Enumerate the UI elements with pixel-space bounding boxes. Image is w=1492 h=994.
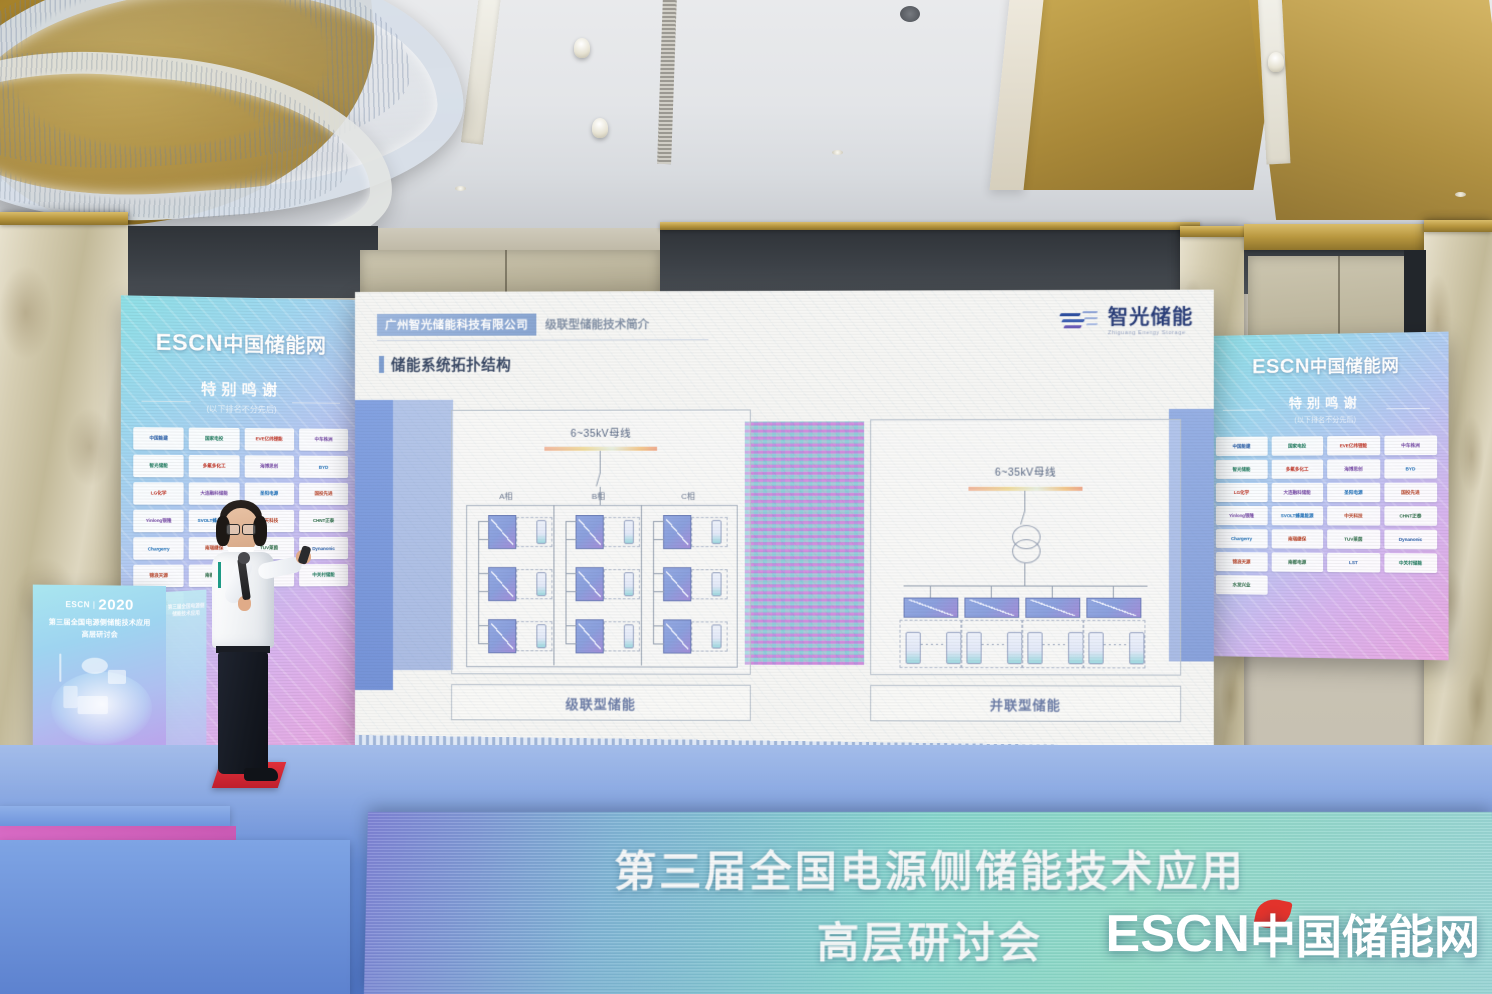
parallel-battery-rack	[1088, 632, 1103, 664]
zhiguang-logo-text-group: 智光储能 Zhiguang Energy Storage	[1108, 308, 1194, 336]
ceiling-spotlight-2	[592, 118, 608, 138]
podium-title-line1: 第三届全国电源侧储能技术应用	[33, 617, 166, 628]
cascaded-wire-link	[653, 573, 654, 625]
cascaded-battery-group	[691, 569, 727, 599]
slide-header-rule	[377, 339, 708, 341]
sponsor-logo-label: 智光储能	[1232, 466, 1250, 472]
sponsor-logo-cell: SVOLT蜂巢能源	[1271, 506, 1323, 525]
gold-trim-left	[0, 212, 128, 225]
ceiling-downlight-3	[832, 150, 843, 155]
parallel-battery-rack	[946, 632, 961, 664]
podium-brand-en: ESCN	[65, 600, 90, 609]
wall-recess-left	[128, 226, 378, 298]
sponsor-logo-label: 锦浪天源	[149, 573, 167, 579]
sponsor-logo-label: Dynanonic	[1399, 537, 1422, 542]
slide-section-title: 储能系统拓扑结构	[379, 354, 511, 375]
parallel-distribution-bus	[904, 585, 1148, 586]
parallel-battery-ellipsis	[1043, 644, 1065, 645]
sponsor-logo-label: 圣阳电源	[260, 491, 278, 497]
sponsor-logo-label: Chargerry	[1231, 536, 1252, 541]
cascaded-converter-block	[663, 567, 691, 601]
diagram-cascaded: 6~35kV母线 A相 B相 C相	[451, 409, 751, 674]
parallel-breaker	[1020, 511, 1025, 525]
sponsor-logo-cell: Dynanonic	[1384, 530, 1437, 550]
diagram-parallel: 6~35kV母线	[870, 419, 1181, 676]
slide-subtitle: 级联型储能技术简介	[545, 316, 649, 332]
cascaded-wire-in	[478, 573, 489, 574]
sponsor-logo-cell: 中车株洲	[1384, 435, 1437, 455]
cascaded-wire-link	[565, 573, 566, 625]
escn-brand-en-left: ESCN	[156, 329, 223, 356]
parallel-branch-drop	[930, 585, 931, 597]
sponsor-logo-label: 中国能建	[149, 435, 167, 441]
cascaded-wire-out	[565, 591, 576, 592]
sponsor-logo-cell: 圣阳电源	[1327, 483, 1380, 502]
sponsor-logo-cell: Yinlong银隆	[133, 510, 184, 532]
microphone-head-icon	[238, 552, 250, 564]
sponsor-logo-cell: 中车株洲	[299, 428, 348, 450]
sponsor-logo-label: 中关村储能	[1399, 560, 1422, 566]
sponsor-logo-label: LST	[1349, 560, 1358, 565]
stage-lower-platform	[0, 840, 350, 994]
section-accent-bar	[379, 356, 384, 373]
thanks-title-left: 特别鸣谢	[121, 377, 360, 401]
speaker-shoe	[244, 768, 278, 781]
cascaded-battery-rack	[536, 624, 546, 648]
cascaded-battery-group	[691, 621, 727, 651]
parallel-xfmr-drop	[1024, 563, 1025, 585]
zhiguang-mark-icon	[1060, 310, 1101, 334]
sponsor-logo-label: BYD	[1406, 466, 1416, 471]
escn-logo-left: ESCN中国储能网	[121, 326, 360, 359]
cascaded-wire-out	[478, 539, 489, 540]
cascaded-converter-block	[576, 619, 604, 653]
cascaded-battery-group	[691, 517, 727, 547]
speaker-glasses-icon	[226, 524, 256, 533]
parallel-battery-ellipsis	[1104, 644, 1126, 645]
phase-label-b: B相	[592, 491, 605, 502]
cascaded-battery-group	[604, 517, 640, 547]
parallel-converter-block	[1025, 598, 1080, 618]
sponsor-logo-label: 多氟多化工	[1286, 466, 1309, 472]
cascaded-battery-rack	[711, 520, 721, 544]
ceiling-downlight-2	[1455, 192, 1466, 197]
speaker-lanyard	[218, 562, 221, 588]
sponsor-logo-label: 锦浪天源	[1232, 559, 1250, 565]
sponsor-logo-label: EVE亿纬锂能	[1340, 443, 1367, 449]
sponsor-logo-cell: TUV莱茵	[1327, 529, 1380, 549]
cascaded-battery-group	[516, 569, 552, 599]
screen-artifact-left-band	[355, 400, 393, 690]
cascaded-caption: 级联型储能	[451, 684, 751, 721]
sponsor-logo-label: 大连融科储能	[1283, 489, 1310, 495]
sponsor-logo-cell: 智光储能	[133, 455, 184, 478]
sponsor-logo-label: Chargerry	[148, 546, 170, 551]
main-led-screen: 广州智光储能科技有限公司 级联型储能技术简介 智光储能 Zhiguang Ene…	[355, 290, 1214, 747]
sponsor-logo-label: 国投先进	[315, 491, 333, 497]
cascaded-battery-rack	[711, 572, 721, 596]
escn-logo-right: ESCN中国储能网	[1205, 350, 1449, 380]
parallel-battery-rack	[1027, 632, 1042, 664]
cascaded-battery-rack	[536, 520, 546, 544]
cascaded-battery-rack	[536, 572, 546, 596]
sponsor-logo-cell: 锦浪天源	[133, 565, 184, 588]
stage-step-left	[0, 806, 230, 826]
cascaded-wire-link	[653, 625, 654, 643]
sponsor-logo-label: 多氟多化工	[203, 463, 226, 469]
cascaded-battery-group	[516, 517, 552, 547]
sponsor-logo-label: 中国能建	[1232, 443, 1250, 449]
cascaded-wire-link	[565, 521, 566, 573]
parallel-battery-rack	[1129, 632, 1144, 664]
thanks-note-left: (以下排名不分先后)	[121, 403, 360, 416]
cascaded-wire-link	[653, 521, 654, 573]
parallel-battery-rack	[1007, 632, 1022, 664]
sponsor-logo-cell: 国投先进	[1384, 483, 1437, 502]
parallel-transformer-icon	[1012, 525, 1038, 563]
cascaded-battery-rack	[624, 520, 634, 544]
parallel-battery-rack	[966, 632, 981, 664]
sponsor-logo-label: 大连融科储能	[200, 491, 227, 497]
sponsor-logo-cell: 大连融科储能	[1271, 483, 1323, 502]
cascaded-wire-in	[653, 573, 664, 574]
sponsor-logo-grid-right: 中国能建国家电投EVE亿纬锂能中车株洲智光储能多氟多化工海博思创BYDLG化学大…	[1216, 435, 1437, 596]
gold-trim-center	[660, 222, 1200, 230]
ceiling-light-channel-1	[461, 0, 501, 145]
sponsor-logo-cell: 南瑞继保	[1271, 529, 1323, 548]
parallel-battery-ellipsis	[982, 644, 1004, 645]
sponsor-logo-cell: 海博思创	[244, 455, 294, 477]
cascaded-divider-2	[641, 505, 642, 666]
watermark-brand-cn: 中国储能网	[1250, 914, 1480, 960]
cascaded-wire-link	[478, 521, 479, 573]
cascaded-bus-drop	[600, 451, 601, 473]
cascaded-converter-block	[488, 567, 516, 601]
cascaded-divider-1	[553, 505, 554, 665]
parallel-converter-block	[1086, 598, 1141, 618]
ceiling	[0, 0, 1492, 232]
sponsor-logo-cell: 智光储能	[1216, 460, 1267, 479]
sponsor-logo-label: 南瑞继保	[1288, 536, 1306, 542]
cascaded-converter-block	[663, 515, 691, 549]
gold-trim-far-right	[1424, 220, 1492, 232]
sponsor-logo-label: CHNT正泰	[1399, 513, 1421, 519]
cascaded-wire-in	[478, 625, 489, 626]
sponsor-logo-cell: EVE亿纬锂能	[1327, 436, 1380, 456]
podium-year: 2020	[98, 596, 134, 613]
ceiling-spotlight-1	[574, 38, 590, 58]
speaker-trousers	[218, 652, 268, 774]
speaker-person	[196, 500, 326, 792]
sponsor-logo-label: 圣阳电源	[1344, 489, 1362, 495]
cascaded-wire-link	[565, 625, 566, 643]
sponsor-logo-label: LG化学	[151, 490, 167, 496]
ceiling-spotlight-3	[1268, 52, 1284, 72]
sponsor-logo-cell: Chargerry	[133, 537, 184, 559]
wall-recess-center	[660, 228, 1200, 294]
sponsor-logo-label: EVE亿纬锂能	[256, 436, 283, 442]
thanks-note-right: (以下排名不分先后)	[1205, 414, 1449, 426]
parallel-converter-block	[964, 598, 1019, 618]
sponsor-logo-cell: 海博思创	[1327, 459, 1380, 478]
sponsor-logo-label: 水发兴业	[1232, 582, 1250, 588]
sponsor-logo-cell: Yinlong银隆	[1216, 506, 1267, 525]
sponsor-logo-cell: 中国能建	[1216, 437, 1267, 456]
sponsor-logo-label: SVOLT蜂巢能源	[1281, 513, 1314, 519]
cascaded-converter-block	[576, 515, 604, 549]
sponsor-logo-cell: 国家电投	[189, 428, 239, 451]
parallel-battery-rack	[906, 632, 921, 664]
sponsor-logo-label: Yinlong银隆	[1229, 513, 1254, 519]
cascaded-battery-group	[604, 621, 640, 651]
sponsor-logo-label: 中车株洲	[1401, 442, 1420, 448]
cascaded-wire-out	[478, 643, 489, 644]
ceiling-air-vent-1	[657, 0, 677, 164]
escn-brand-cn-right: 中国储能网	[1310, 356, 1399, 377]
zhiguang-logo: 智光储能 Zhiguang Energy Storage	[1060, 308, 1193, 337]
podium-art-box	[108, 670, 126, 684]
sponsor-logo-cell: 锦浪天源	[1216, 552, 1267, 571]
cascaded-battery-rack	[624, 572, 634, 596]
sponsor-logo-label: 国家电投	[1288, 443, 1306, 449]
sponsor-logo-cell: 中国能建	[133, 427, 184, 450]
sponsor-logo-cell: CHNT正泰	[1384, 506, 1437, 526]
gold-trim-center-right	[1180, 226, 1244, 237]
cascaded-converter-block	[576, 567, 604, 601]
cascaded-wire-out	[565, 539, 576, 540]
parallel-caption: 并联型储能	[870, 685, 1181, 722]
sponsor-logo-cell: LST	[1327, 553, 1380, 573]
cascaded-battery-group	[516, 621, 552, 651]
watermark-brand-en: ESCN	[1106, 908, 1250, 960]
stage-front-led-banner: 第三届全国电源侧储能技术应用 高层研讨会	[364, 812, 1492, 994]
zhiguang-logo-subtext: Zhiguang Energy Storage	[1108, 330, 1194, 336]
parallel-converter-block	[904, 598, 959, 618]
cascaded-battery-rack	[711, 624, 721, 648]
podium-art-turbine	[59, 654, 61, 682]
sponsor-logo-cell: Chargerry	[1216, 529, 1267, 548]
cascaded-wire-out	[653, 539, 664, 540]
sponsor-logo-label: 国投先进	[1401, 489, 1420, 495]
sponsor-logo-cell: LG化学	[1216, 483, 1267, 502]
cascaded-wire-link	[478, 573, 479, 625]
screen-artifact-left-band-2	[393, 400, 453, 670]
phase-label-c: C相	[681, 491, 695, 502]
podium-art-building	[78, 696, 108, 714]
cascaded-wire-out	[565, 643, 576, 644]
escn-brand-cn-left: 中国储能网	[223, 334, 326, 358]
sponsor-logo-label: 海博思创	[260, 463, 278, 469]
sponsor-logo-cell: 南都电源	[1271, 552, 1323, 572]
presentation-slide: 广州智光储能科技有限公司 级联型储能技术简介 智光储能 Zhiguang Ene…	[355, 290, 1214, 747]
sponsor-logo-label: BYD	[319, 464, 328, 469]
cascaded-battery-rack	[624, 624, 634, 648]
parallel-branch-drop	[991, 586, 992, 598]
ceiling-dome-camera	[900, 6, 920, 22]
sponsor-logo-cell: BYD	[1384, 459, 1437, 479]
conference-photo-scene: ESCN中国储能网 特别鸣谢 (以下排名不分先后) 中国能建国家电投EVE亿纬锂…	[0, 0, 1492, 994]
cascaded-wire-link	[478, 625, 479, 643]
parallel-branch-drop	[1052, 586, 1053, 598]
escn-watermark: ESCN 中国储能网	[1106, 908, 1480, 960]
slide-header: 广州智光储能科技有限公司 级联型储能技术简介	[377, 313, 649, 336]
sponsor-logo-label: Yinlong银隆	[146, 518, 172, 524]
ceiling-downlight-1	[455, 186, 466, 191]
section-title-text: 储能系统拓扑结构	[391, 354, 511, 375]
cascaded-wire-in	[565, 625, 576, 626]
sponsor-logo-cell: 多氟多化工	[1271, 460, 1323, 479]
podium-art-panel	[63, 686, 77, 708]
sponsor-logo-label: 中天科技	[1344, 513, 1362, 519]
parallel-branch-drop	[1113, 586, 1114, 598]
slide-company-chip: 广州智光储能科技有限公司	[377, 314, 536, 336]
zhiguang-logo-name: 智光储能	[1108, 308, 1194, 328]
phase-label-a: A相	[499, 491, 512, 502]
cascaded-converter-block	[488, 619, 516, 653]
cascaded-wire-in	[653, 521, 664, 522]
sponsor-logo-cell: 国家电投	[1271, 436, 1323, 455]
screen-artifact-center-moire	[745, 421, 864, 665]
parallel-battery-ellipsis	[921, 644, 943, 645]
escn-brand-en-right: ESCN	[1252, 355, 1310, 378]
sponsor-logo-label: 南都电源	[1288, 559, 1306, 565]
sponsor-logo-label: LG化学	[1234, 489, 1249, 495]
cascaded-wire-in	[478, 521, 489, 522]
sponsor-logo-cell: 中关村储能	[1384, 553, 1437, 573]
sponsor-logo-cell: LG化学	[133, 482, 184, 505]
parallel-bus-label: 6~35kV母线	[871, 464, 1180, 479]
sponsor-logo-label: 海博思创	[1344, 466, 1362, 472]
banner-line-1: 第三届全国电源侧储能技术应用	[366, 838, 1492, 899]
sponsor-logo-label: 中车株洲	[315, 437, 333, 443]
cascaded-wire-out	[653, 591, 664, 592]
sponsor-logo-cell: BYD	[299, 456, 348, 478]
cascaded-bus-label: 6~35kV母线	[452, 426, 750, 441]
podium-art-tank	[82, 658, 108, 674]
podium-brand-row: ESCN | 2020	[33, 596, 166, 614]
parallel-battery-rack	[1068, 632, 1083, 664]
cascaded-breaker	[596, 473, 601, 487]
cascaded-converter-block	[488, 515, 516, 549]
cascaded-wire-in	[565, 573, 576, 574]
sponsor-logo-label: 国家电投	[205, 436, 223, 442]
sponsor-logo-cell: 中天科技	[1327, 506, 1380, 525]
sponsor-logo-cell: 多氟多化工	[189, 455, 239, 478]
cascaded-wire-in	[565, 521, 576, 522]
sponsor-logo-label: TUV莱茵	[1344, 536, 1362, 542]
cascaded-wire-out	[653, 643, 664, 644]
cascaded-wire-in	[653, 625, 664, 626]
cascaded-battery-group	[604, 569, 640, 599]
sponsor-logo-label: 智光储能	[149, 463, 167, 469]
sponsor-logo-cell: EVE亿纬锂能	[244, 428, 294, 451]
cascaded-wire-out	[478, 591, 489, 592]
sponsor-panel-right: ESCN中国储能网 特别鸣谢 (以下排名不分先后) 中国能建国家电投EVE亿纬锂…	[1205, 332, 1449, 661]
cascaded-converter-block	[663, 619, 691, 653]
parallel-bus-drop	[1024, 491, 1025, 511]
podium-title-line2: 高层研讨会	[33, 629, 166, 640]
sponsor-logo-cell: 水发兴业	[1216, 575, 1267, 595]
